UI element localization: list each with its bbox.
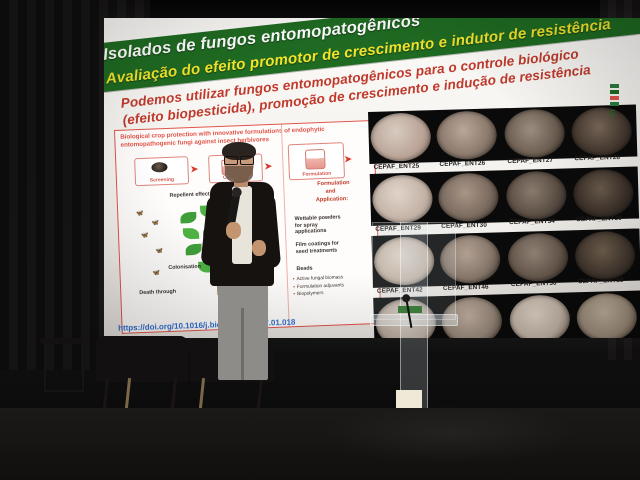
podium-top-shelf xyxy=(370,314,458,326)
petri-dish xyxy=(573,169,634,219)
insect-icon: 🦋 xyxy=(151,219,159,226)
insect-icon: 🦋 xyxy=(152,269,160,276)
podium-item-green xyxy=(398,306,422,313)
logo-wordmark: E xyxy=(610,109,636,118)
plant-label-death: Death through xyxy=(139,288,183,296)
petri-dish-label: CEPAF_ENT28 xyxy=(574,154,620,162)
speaker-pants xyxy=(218,280,268,380)
petri-dish-label: CEPAF_ENT26 xyxy=(439,160,485,168)
petri-dish xyxy=(370,112,431,162)
side-table-frame xyxy=(44,344,84,392)
presentation-photo: Isolados de fungos entomopatogênicos Ava… xyxy=(0,0,640,480)
petri-dish xyxy=(509,294,570,338)
petri-dish-label: CEPAF_ENT50 xyxy=(511,280,557,288)
speaker-figure xyxy=(196,144,288,380)
bioreactor-icon xyxy=(305,149,326,170)
product-film-coatings: Film coatings for seed treatments xyxy=(295,240,343,255)
petri-dish xyxy=(436,110,497,160)
petri-dish-label: CEPAF_ENT58 xyxy=(578,277,624,285)
glasses-icon xyxy=(224,156,254,163)
speaker-hand-right xyxy=(252,240,266,256)
petri-dish-label: CEPAF_ENT34 xyxy=(509,218,555,226)
insect-icon: 🦋 xyxy=(156,247,164,254)
institution-logos: E xyxy=(610,84,636,118)
stage-chair xyxy=(96,336,188,382)
product-wettable-powders: Wettable powders for spray applications xyxy=(294,214,343,235)
product-beads: Beads xyxy=(296,264,344,272)
speaker-beard xyxy=(225,166,253,183)
flow-box-screening: Screening xyxy=(134,156,189,186)
petri-dish xyxy=(576,293,637,338)
petri-dish xyxy=(507,232,568,282)
figure-bullet-list: Active fungal biomass Formulation adjuva… xyxy=(293,273,376,299)
flow-label-screening: Screening xyxy=(136,176,188,184)
logo-chip-green xyxy=(610,102,619,106)
petri-mini-icon xyxy=(151,162,167,173)
logo-chip-green xyxy=(610,90,619,94)
petri-dish-label: CEPAF_ENT39 xyxy=(576,215,622,223)
petri-dish xyxy=(574,231,635,281)
insect-icon: 🦋 xyxy=(141,232,149,239)
speaker-hand-left xyxy=(226,222,241,239)
logo-chip-red xyxy=(610,96,619,100)
arrow-right-icon: ➤ xyxy=(344,154,352,165)
flow-box-formulation: Formulation xyxy=(288,142,345,180)
stage-floor-glow xyxy=(320,404,580,464)
petri-dish xyxy=(438,172,499,222)
petri-dish-label: CEPAF_ENT25 xyxy=(373,163,419,171)
flow-label-formulation: Formulation xyxy=(290,170,344,178)
insect-icon: 🦋 xyxy=(136,210,144,217)
petri-dish xyxy=(506,171,567,221)
logo-chip-green xyxy=(610,84,619,88)
leaf-icon xyxy=(180,212,196,224)
petri-dish xyxy=(372,174,433,224)
petri-dish xyxy=(504,109,565,159)
application-heading-1: Formulation xyxy=(317,180,350,189)
application-heading-2: and xyxy=(325,189,335,197)
application-heading-3: Application: xyxy=(316,196,349,205)
petri-dish-label: CEPAF_ENT27 xyxy=(507,157,553,165)
